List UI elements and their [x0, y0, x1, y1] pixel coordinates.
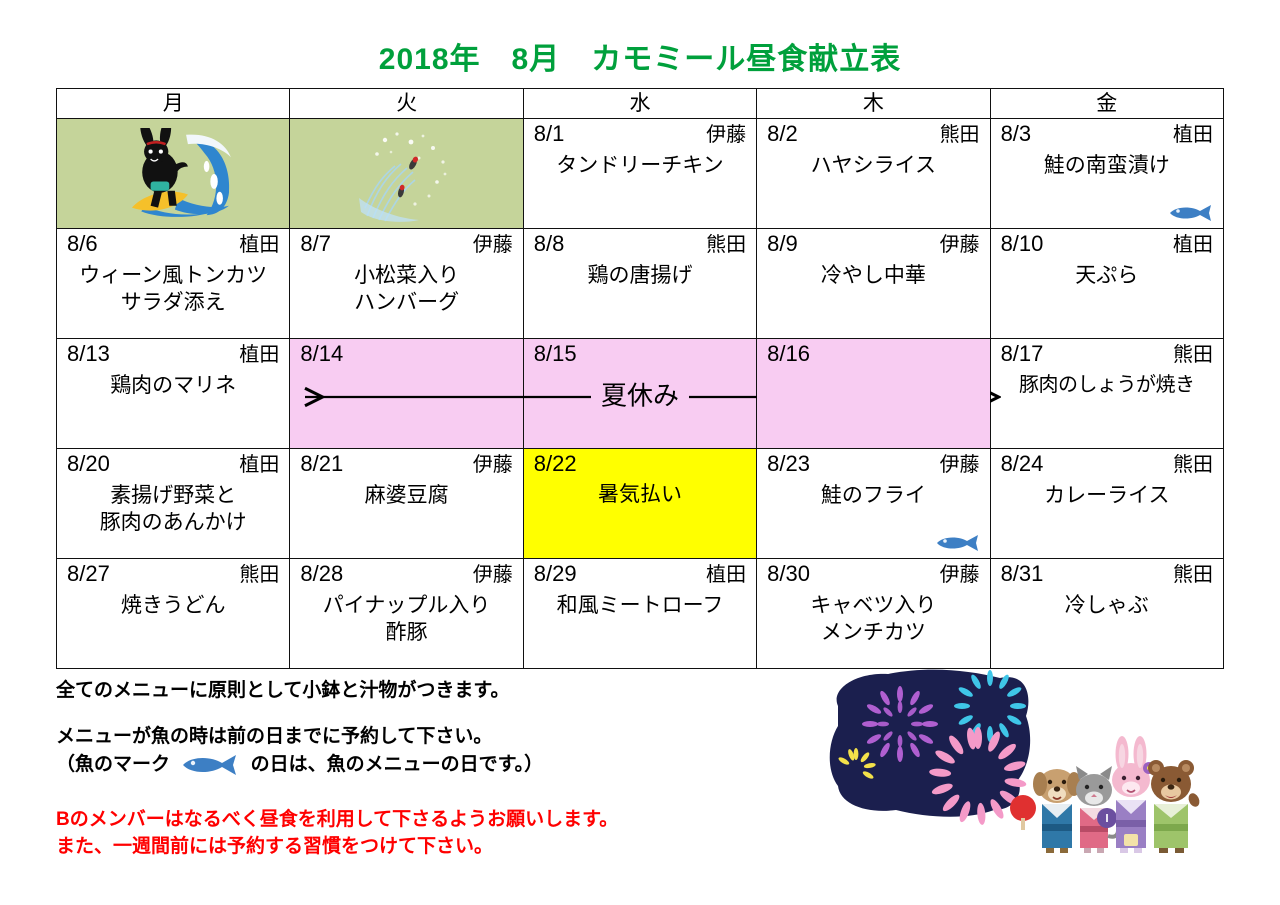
- cell-menu: 素揚げ野菜と 豚肉のあんかけ: [63, 482, 283, 536]
- cell-header: 8/22: [530, 451, 750, 477]
- cell-menu: 天ぷら: [997, 262, 1217, 289]
- cell-content: 8/9伊藤冷やし中華: [757, 229, 989, 338]
- cell-content: 8/27熊田焼きうどん: [57, 559, 289, 668]
- calendar-cell-8-24: 8/24熊田カレーライス: [990, 449, 1223, 559]
- cell-date: 8/23: [767, 451, 810, 477]
- cell-date: 8/13: [67, 341, 110, 367]
- cell-header: 8/31熊田: [997, 561, 1217, 588]
- firefly-night-illustration: [290, 119, 522, 228]
- cell-header: 8/1伊藤: [530, 121, 750, 148]
- cell-header: 8/8熊田: [530, 231, 750, 258]
- cell-content: 8/8熊田鶏の唐揚げ: [524, 229, 756, 338]
- cell-menu: 和風ミートローフ: [530, 592, 750, 619]
- calendar-week-row: 8/13植田鶏肉のマリネ8/148/15夏休み8/168/17熊田豚肉のしょうが…: [57, 339, 1224, 449]
- cell-header: 8/21伊藤: [296, 451, 516, 478]
- cell-content: 8/6植田ウィーン風トンカツ サラダ添え: [57, 229, 289, 338]
- cell-content: 8/15: [524, 339, 756, 448]
- cell-date: 8/17: [1001, 341, 1044, 367]
- cell-menu: 麻婆豆腐: [296, 482, 516, 509]
- cell-menu: パイナップル入り 酢豚: [296, 592, 516, 646]
- note-spacer: [56, 704, 816, 724]
- cell-date: 8/9: [767, 231, 798, 257]
- cell-menu: ウィーン風トンカツ サラダ添え: [63, 262, 283, 316]
- cell-content: 8/3植田鮭の南蛮漬け: [991, 119, 1223, 228]
- calendar-cell-8-14: 8/14: [290, 339, 523, 449]
- calendar-week-row: 8/27熊田焼きうどん8/28伊藤パイナップル入り 酢豚8/29植田和風ミートロ…: [57, 559, 1224, 669]
- calendar-cell-8-17: 8/17熊田豚肉のしょうが焼き: [990, 339, 1223, 449]
- calendar-cell-8-31: 8/31熊田冷しゃぶ: [990, 559, 1223, 669]
- weekday-header-thu: 木: [757, 89, 990, 119]
- calendar-cell-8-16: 8/16: [757, 339, 990, 449]
- cell-staff: 植田: [239, 232, 279, 258]
- calendar-cell-8-9: 8/9伊藤冷やし中華: [757, 229, 990, 339]
- cell-content: 8/21伊藤麻婆豆腐: [290, 449, 522, 558]
- cell-content: 8/1伊藤タンドリーチキン: [524, 119, 756, 228]
- fish-icon: [181, 754, 239, 776]
- note-line-3-prefix: （魚のマーク: [56, 754, 170, 775]
- note-red-1: Bのメンバーはなるべく昼食を利用して下さるようお願いします。: [56, 806, 816, 833]
- cell-date: 8/15: [534, 341, 577, 367]
- calendar-cell-8-21: 8/21伊藤麻婆豆腐: [290, 449, 523, 559]
- calendar-body: 8/1伊藤タンドリーチキン8/2熊田ハヤシライス8/3植田鮭の南蛮漬け8/6植田…: [57, 119, 1224, 669]
- cell-staff: 熊田: [1173, 342, 1213, 368]
- cell-date: 8/7: [300, 231, 331, 257]
- cell-content: 8/23伊藤鮭のフライ: [757, 449, 989, 558]
- cell-content: 8/13植田鶏肉のマリネ: [57, 339, 289, 448]
- cell-header: 8/10植田: [997, 231, 1217, 258]
- cell-date: 8/30: [767, 561, 810, 587]
- calendar-cell-8-6: 8/6植田ウィーン風トンカツ サラダ添え: [57, 229, 290, 339]
- cell-staff: 植田: [1173, 122, 1213, 148]
- cell-date: 8/28: [300, 561, 343, 587]
- cell-staff: 植田: [239, 452, 279, 478]
- cell-menu: 鮭のフライ: [763, 482, 983, 509]
- cell-staff: 伊藤: [473, 562, 513, 588]
- cell-content: 8/10植田天ぷら: [991, 229, 1223, 338]
- cell-menu: 暑気払い: [530, 481, 750, 508]
- notes-section: 全てのメニューに原則として小鉢と汁物がつきます。 メニューが魚の時は前の日までに…: [56, 678, 816, 860]
- cell-menu: ハヤシライス: [763, 152, 983, 179]
- cell-menu: 鮭の南蛮漬け: [997, 152, 1217, 179]
- cell-header: 8/6植田: [63, 231, 283, 258]
- cell-date: 8/24: [1001, 451, 1044, 477]
- cell-header: 8/29植田: [530, 561, 750, 588]
- cell-menu: キャベツ入り メンチカツ: [763, 592, 983, 646]
- dog-character: [1033, 769, 1081, 853]
- note-line-1: 全てのメニューに原則として小鉢と汁物がつきます。: [56, 678, 816, 704]
- cell-date: 8/16: [767, 341, 810, 367]
- cell-staff: 植田: [706, 562, 746, 588]
- note-line-2: メニューが魚の時は前の日までに予約して下さい。: [56, 724, 816, 750]
- note-red-2: また、一週間前には予約する習慣をつけて下さい。: [56, 833, 816, 860]
- cell-header: 8/13植田: [63, 341, 283, 368]
- cell-content: 8/14: [290, 339, 522, 448]
- cell-content: 8/30伊藤キャベツ入り メンチカツ: [757, 559, 989, 668]
- cell-header: 8/27熊田: [63, 561, 283, 588]
- cell-content: 8/17熊田豚肉のしょうが焼き: [991, 339, 1223, 448]
- cell-menu: カレーライス: [997, 482, 1217, 509]
- cell-staff: 熊田: [706, 232, 746, 258]
- weekday-header-wed: 水: [523, 89, 756, 119]
- calendar-cell-8-22: 8/22暑気払い: [523, 449, 756, 559]
- calendar-cell-8-8: 8/8熊田鶏の唐揚げ: [523, 229, 756, 339]
- cell-staff: 熊田: [1173, 562, 1213, 588]
- cell-menu: 鶏肉のマリネ: [63, 372, 283, 399]
- surfing-rabbit-illustration: [57, 119, 289, 228]
- note-line-3: （魚のマーク の日は、魚のメニューの日です。）: [56, 750, 816, 780]
- calendar-week-row: 8/1伊藤タンドリーチキン8/2熊田ハヤシライス8/3植田鮭の南蛮漬け: [57, 119, 1224, 229]
- calendar-cell-illustration: [57, 119, 290, 229]
- calendar-cell-8-23: 8/23伊藤鮭のフライ: [757, 449, 990, 559]
- cat-character: [1076, 766, 1118, 853]
- cell-content: 8/28伊藤パイナップル入り 酢豚: [290, 559, 522, 668]
- calendar-cell-8-2: 8/2熊田ハヤシライス: [757, 119, 990, 229]
- rabbit-character: [1112, 736, 1155, 853]
- calendar-cell-8-27: 8/27熊田焼きうどん: [57, 559, 290, 669]
- cell-header: 8/23伊藤: [763, 451, 983, 478]
- note-line-3-suffix: の日は、魚のメニューの日です。）: [251, 754, 544, 775]
- calendar-cell-8-15: 8/15夏休み: [523, 339, 756, 449]
- cell-date: 8/6: [67, 231, 98, 257]
- cell-staff: 植田: [1173, 232, 1213, 258]
- cell-staff: 伊藤: [940, 562, 980, 588]
- cell-header: 8/24熊田: [997, 451, 1217, 478]
- cell-date: 8/3: [1001, 121, 1032, 147]
- cell-menu: 冷しゃぶ: [997, 592, 1217, 619]
- cell-menu: 鶏の唐揚げ: [530, 262, 750, 289]
- cell-content: 8/7伊藤小松菜入り ハンバーグ: [290, 229, 522, 338]
- cell-staff: 伊藤: [473, 232, 513, 258]
- menu-poster: 2018年 8月 カモミール昼食献立表 月 火 水 木 金 8/1伊藤タンドリー…: [0, 0, 1280, 905]
- calendar-cell-8-1: 8/1伊藤タンドリーチキン: [523, 119, 756, 229]
- weekday-header-mon: 月: [57, 89, 290, 119]
- cell-date: 8/27: [67, 561, 110, 587]
- cell-date: 8/29: [534, 561, 577, 587]
- cell-staff: 熊田: [1173, 452, 1213, 478]
- cell-date: 8/22: [534, 451, 577, 477]
- cell-staff: 熊田: [239, 562, 279, 588]
- cell-date: 8/1: [534, 121, 565, 147]
- cell-header: 8/30伊藤: [763, 561, 983, 588]
- cell-content: 8/24熊田カレーライス: [991, 449, 1223, 558]
- uchiwa-fan-icon: [1010, 795, 1036, 830]
- cell-header: 8/15: [530, 341, 750, 367]
- page-title: 2018年 8月 カモミール昼食献立表: [0, 34, 1280, 78]
- cell-date: 8/2: [767, 121, 798, 147]
- weekday-header-fri: 金: [990, 89, 1223, 119]
- cell-staff: 伊藤: [940, 452, 980, 478]
- cell-staff: 植田: [239, 342, 279, 368]
- calendar-cell-8-20: 8/20植田素揚げ野菜と 豚肉のあんかけ: [57, 449, 290, 559]
- cell-date: 8/31: [1001, 561, 1044, 587]
- cell-date: 8/8: [534, 231, 565, 257]
- cell-header: 8/3植田: [997, 121, 1217, 148]
- notes-red-block: Bのメンバーはなるべく昼食を利用して下さるようお願いします。 また、一週間前には…: [56, 806, 816, 860]
- cell-menu: 豚肉のしょうが焼き: [997, 372, 1217, 399]
- cell-content: 8/2熊田ハヤシライス: [757, 119, 989, 228]
- cell-staff: 熊田: [940, 122, 980, 148]
- cell-staff: 伊藤: [706, 122, 746, 148]
- weekday-header-row: 月 火 水 木 金: [57, 89, 1224, 119]
- cell-date: 8/20: [67, 451, 110, 477]
- cell-staff: 伊藤: [473, 452, 513, 478]
- cell-header: 8/16: [763, 341, 983, 367]
- cell-menu: 小松菜入り ハンバーグ: [296, 262, 516, 316]
- cell-header: 8/17熊田: [997, 341, 1217, 368]
- cell-header: 8/14: [296, 341, 516, 367]
- fish-icon: [936, 534, 980, 552]
- cell-content: 8/20植田素揚げ野菜と 豚肉のあんかけ: [57, 449, 289, 558]
- cell-content: 8/31熊田冷しゃぶ: [991, 559, 1223, 668]
- calendar-cell-8-13: 8/13植田鶏肉のマリネ: [57, 339, 290, 449]
- cell-header: 8/9伊藤: [763, 231, 983, 258]
- calendar-cell-8-3: 8/3植田鮭の南蛮漬け: [990, 119, 1223, 229]
- calendar-cell-8-28: 8/28伊藤パイナップル入り 酢豚: [290, 559, 523, 669]
- cell-menu: 冷やし中華: [763, 262, 983, 289]
- cell-content: 8/22暑気払い: [524, 449, 756, 558]
- bear-character: [1148, 760, 1201, 853]
- fish-icon: [1169, 204, 1213, 222]
- calendar-cell-8-30: 8/30伊藤キャベツ入り メンチカツ: [757, 559, 990, 669]
- cell-header: 8/2熊田: [763, 121, 983, 148]
- cell-date: 8/21: [300, 451, 343, 477]
- cell-menu: タンドリーチキン: [530, 152, 750, 179]
- calendar-week-row: 8/20植田素揚げ野菜と 豚肉のあんかけ8/21伊藤麻婆豆腐8/22暑気払い8/…: [57, 449, 1224, 559]
- cell-content: 8/16: [757, 339, 989, 448]
- cell-menu: 焼きうどん: [63, 592, 283, 619]
- cell-staff: 伊藤: [940, 232, 980, 258]
- calendar-cell-8-29: 8/29植田和風ミートローフ: [523, 559, 756, 669]
- weekday-header-tue: 火: [290, 89, 523, 119]
- calendar-cell-8-7: 8/7伊藤小松菜入り ハンバーグ: [290, 229, 523, 339]
- lunch-menu-calendar: 月 火 水 木 金 8/1伊藤タンドリーチキン8/2熊田ハヤシライス8/3植田鮭…: [56, 88, 1224, 669]
- cell-header: 8/20植田: [63, 451, 283, 478]
- fireworks-yukata-animals-illustration: [818, 668, 1248, 878]
- cell-content: 8/29植田和風ミートローフ: [524, 559, 756, 668]
- calendar-week-row: 8/6植田ウィーン風トンカツ サラダ添え8/7伊藤小松菜入り ハンバーグ8/8熊…: [57, 229, 1224, 339]
- cell-header: 8/28伊藤: [296, 561, 516, 588]
- cell-date: 8/10: [1001, 231, 1044, 257]
- cell-date: 8/14: [300, 341, 343, 367]
- calendar-cell-8-10: 8/10植田天ぷら: [990, 229, 1223, 339]
- cell-header: 8/7伊藤: [296, 231, 516, 258]
- calendar-cell-illustration: [290, 119, 523, 229]
